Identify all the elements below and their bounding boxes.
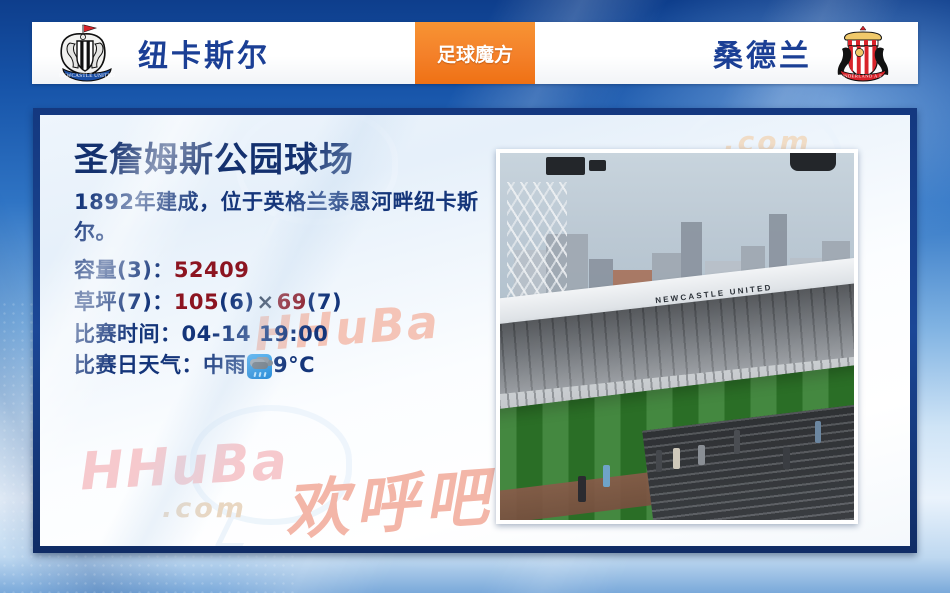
away-team-block[interactable]: 桑德兰 SUNDERLAND A.F.C.	[535, 23, 918, 83]
weather-condition: 中雨	[203, 350, 246, 382]
rain-cloud-icon	[247, 354, 272, 379]
home-team-name: 纽卡斯尔	[138, 31, 270, 75]
watermark-site-latin: HHuBa	[79, 432, 291, 503]
sunderland-afc-crest: SUNDERLAND A.F.C.	[826, 23, 900, 83]
photo-spectator	[815, 421, 821, 443]
stadium-description: 1892年建成，位于英格兰泰恩河畔纽卡斯尔。	[74, 188, 494, 248]
match-weather-row: 比赛日天气： 中雨 9°C	[74, 350, 494, 382]
pitch-multiply-sign: ×	[254, 287, 276, 319]
match-header-bar: NEWCASTLE UNITED 纽卡斯尔 足球魔方 桑德兰	[32, 22, 918, 84]
watermark-site-cn: 欢呼吧	[281, 446, 497, 546]
pitch-label: 草坪(7)：	[74, 287, 174, 319]
photo-speaker-box	[589, 160, 607, 171]
pitch-width-rank: (7)	[307, 287, 342, 319]
pitch-length-value: 105	[174, 287, 219, 319]
weather-temperature: 9°C	[273, 350, 315, 382]
stadium-title: 圣詹姆斯公园球场	[74, 141, 494, 179]
weather-label: 比赛日天气：	[74, 350, 203, 382]
pitch-length-rank: (6)	[219, 287, 254, 319]
photo-spectator	[734, 430, 740, 454]
photo-spectator	[578, 476, 586, 502]
capacity-row: 容量(3)： 52409	[74, 255, 494, 287]
photo-spectator	[783, 447, 789, 469]
photo-spectator	[698, 445, 704, 465]
stadium-photo-image: NEWCASTLE UNITED	[500, 153, 854, 520]
newcastle-united-crest: NEWCASTLE UNITED	[50, 23, 124, 83]
photo-floodlight-gantry	[507, 182, 567, 307]
pitch-width-value: 69	[277, 287, 307, 319]
svg-text:NEWCASTLE UNITED: NEWCASTLE UNITED	[59, 73, 115, 79]
match-time-row: 比赛时间： 04-14 19:00	[74, 319, 494, 351]
stadium-info-card: NEWCASTLE UNITED 纽卡斯尔 足球魔方 桑德兰	[0, 0, 950, 593]
content-frame: HHuBa .com HHuBa 欢呼吧 .com 圣詹姆斯公园球场 1892年…	[33, 108, 917, 553]
watermark-site-domain: .com	[162, 493, 247, 524]
site-brand-badge[interactable]: 足球魔方	[415, 22, 535, 84]
capacity-label: 容量(3)：	[74, 255, 174, 287]
photo-spectator	[656, 450, 662, 472]
photo-speaker-box	[546, 157, 585, 175]
match-time-label: 比赛时间：	[74, 319, 182, 351]
pitch-size-row: 草坪(7)： 105 (6) × 69 (7)	[74, 287, 494, 319]
away-team-name: 桑德兰	[713, 31, 812, 75]
stadium-info-column: 圣詹姆斯公园球场 1892年建成，位于英格兰泰恩河畔纽卡斯尔。 容量(3)： 5…	[74, 141, 494, 382]
svg-text:SUNDERLAND A.F.C.: SUNDERLAND A.F.C.	[838, 73, 889, 78]
photo-speaker-box	[790, 153, 836, 171]
match-time-value: 04-14 19:00	[182, 319, 329, 351]
site-brand-label: 足球魔方	[437, 40, 513, 67]
photo-spectator	[673, 448, 679, 468]
home-team-block[interactable]: NEWCASTLE UNITED 纽卡斯尔	[32, 23, 415, 83]
capacity-value: 52409	[174, 255, 250, 287]
stadium-photo: NEWCASTLE UNITED	[496, 149, 858, 524]
watermark-speech-bubble	[190, 405, 352, 525]
photo-spectator	[603, 465, 610, 487]
content-panel: HHuBa .com HHuBa 欢呼吧 .com 圣詹姆斯公园球场 1892年…	[40, 115, 910, 546]
